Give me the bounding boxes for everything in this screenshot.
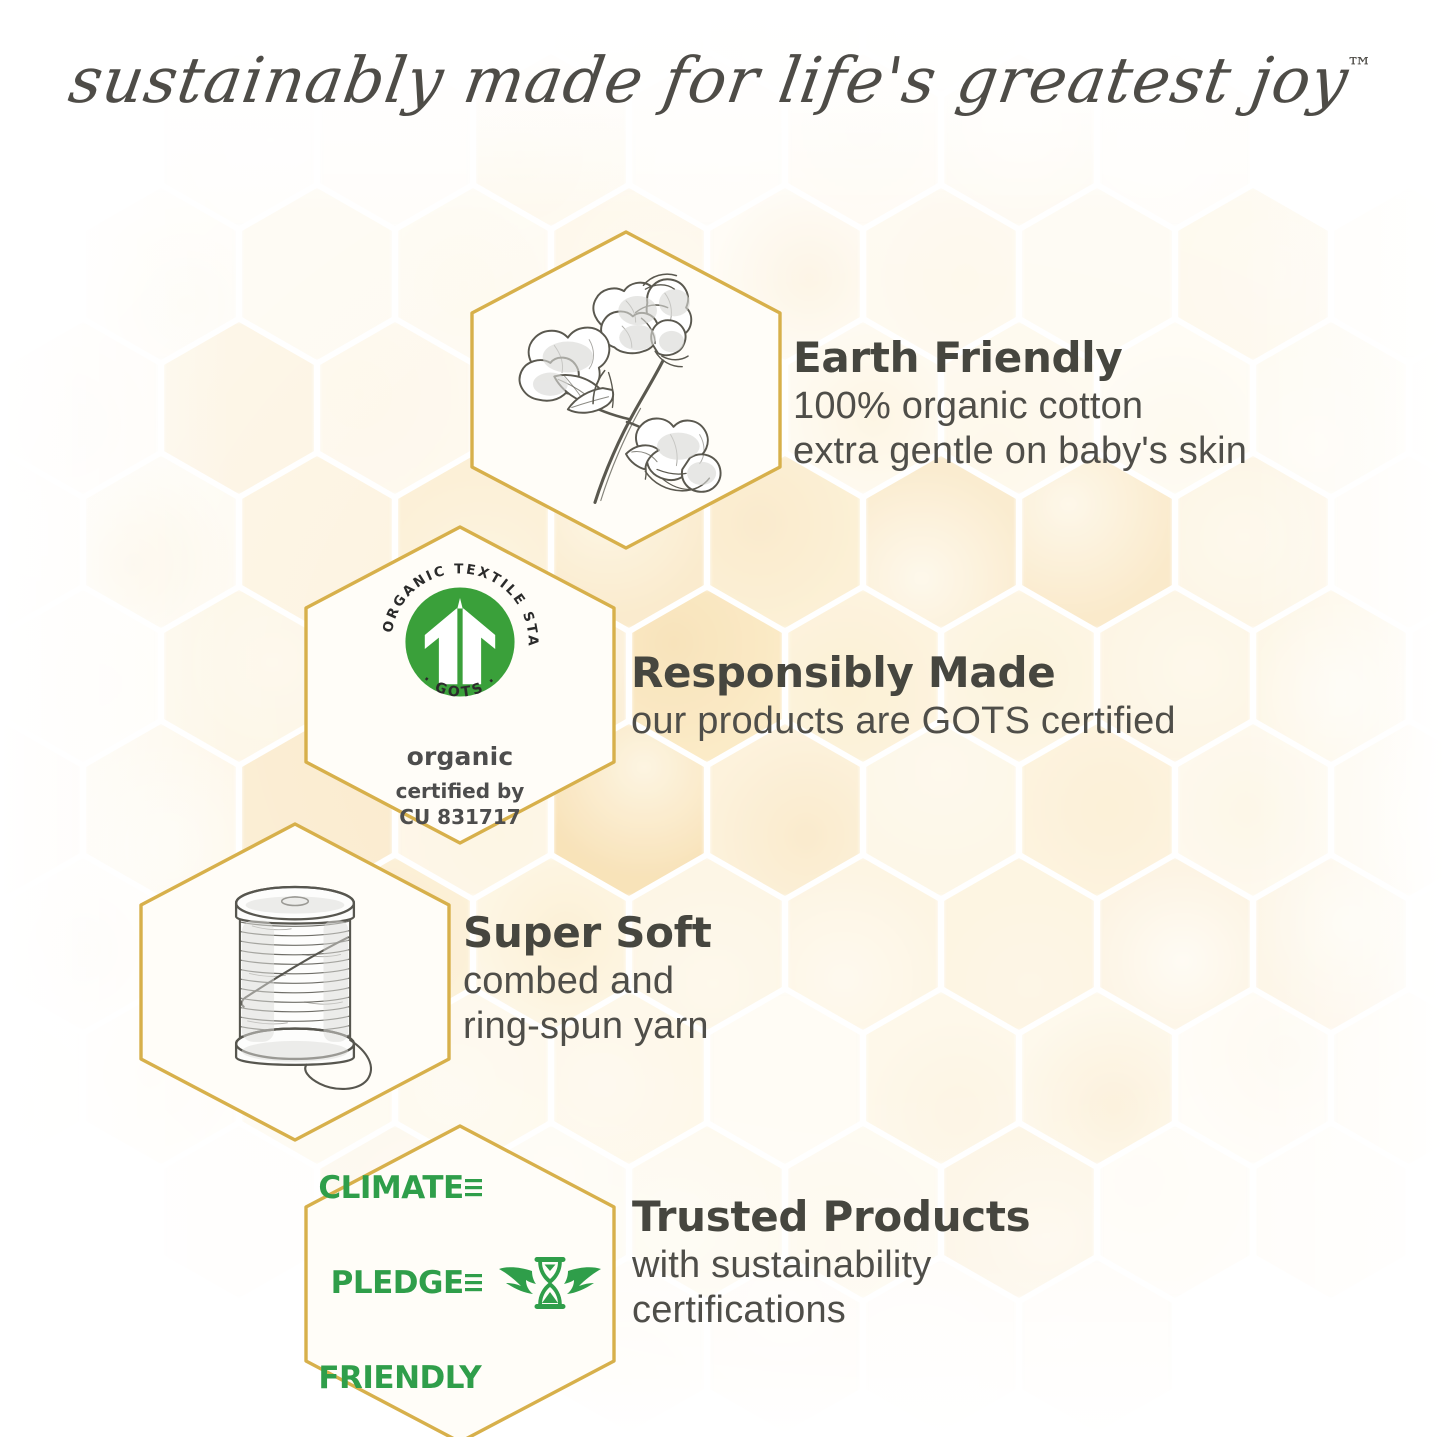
feature-line: with sustainability bbox=[632, 1243, 1030, 1287]
feature-line: certifications bbox=[632, 1288, 1030, 1332]
feature-hexagon-trusted-products: CLIMATE PLEDGE FRIENDLY bbox=[300, 1122, 620, 1437]
feature-text-responsibly-made: Responsibly Made our products are GOTS c… bbox=[631, 648, 1176, 744]
honeycomb-cell bbox=[86, 456, 236, 628]
honeycomb-cell bbox=[0, 724, 80, 896]
page-headline: sustainably made for life's greatest joy… bbox=[0, 44, 1445, 117]
infographic-canvas: sustainably made for life's greatest joy… bbox=[0, 0, 1445, 1437]
feature-line: our products are GOTS certified bbox=[631, 699, 1176, 743]
honeycomb-cell bbox=[710, 724, 860, 896]
gots-certified-by-label: certified by bbox=[396, 779, 525, 804]
honeycomb-cell bbox=[0, 456, 80, 628]
honeycomb-cell bbox=[1334, 992, 1445, 1164]
honeycomb-cell bbox=[164, 1126, 314, 1298]
cpf-bars-icon-1 bbox=[465, 1176, 482, 1202]
feature-line: combed and bbox=[463, 959, 712, 1003]
honeycomb-cell bbox=[0, 590, 2, 762]
honeycomb-cell bbox=[0, 858, 2, 1030]
winged-hourglass-icon bbox=[498, 1247, 602, 1321]
cpf-line-1: CLIMATE bbox=[318, 1173, 463, 1205]
feature-line: ring-spun yarn bbox=[463, 1004, 712, 1048]
cotton-plant-icon bbox=[466, 228, 786, 552]
headline-text: sustainably made for life's greatest joy bbox=[65, 44, 1355, 117]
feature-hexagon-super-soft bbox=[135, 820, 455, 1144]
honeycomb-cell bbox=[1100, 1126, 1250, 1298]
trademark-symbol: ™ bbox=[1347, 53, 1373, 83]
honeycomb-cell bbox=[710, 992, 860, 1164]
gots-seal: GLOBAL ORGANIC TEXTILE STANDARD · GOTS · bbox=[372, 554, 548, 730]
honeycomb-cell bbox=[944, 858, 1094, 1030]
cpf-bars-icon-2 bbox=[465, 1271, 482, 1297]
honeycomb-cell bbox=[866, 724, 1016, 896]
feature-hexagon-earth-friendly bbox=[466, 228, 786, 552]
honeycomb-cell bbox=[788, 858, 938, 1030]
honeycomb-cell bbox=[1334, 456, 1445, 628]
honeycomb-cell bbox=[1022, 724, 1172, 896]
honeycomb-cell bbox=[1256, 322, 1406, 494]
feature-heading: Trusted Products bbox=[632, 1192, 1030, 1241]
feature-heading: Super Soft bbox=[463, 908, 712, 957]
gots-organic-label: organic bbox=[407, 742, 514, 771]
honeycomb-cell bbox=[866, 456, 1016, 628]
honeycomb-cell bbox=[1178, 456, 1328, 628]
thread-spool-icon bbox=[135, 820, 455, 1144]
honeycomb-cell bbox=[1256, 858, 1406, 1030]
honeycomb-cell bbox=[866, 992, 1016, 1164]
honeycomb-cell bbox=[1256, 590, 1406, 762]
feature-hexagon-responsibly-made: GLOBAL ORGANIC TEXTILE STANDARD · GOTS ·… bbox=[300, 523, 620, 847]
honeycomb-cell bbox=[164, 590, 314, 762]
honeycomb-cell bbox=[1334, 724, 1445, 896]
honeycomb-cell bbox=[1412, 322, 1445, 494]
honeycomb-cell bbox=[1022, 992, 1172, 1164]
honeycomb-cell bbox=[86, 188, 236, 360]
honeycomb-cell bbox=[1178, 724, 1328, 896]
climate-pledge-friendly-icon: CLIMATE PLEDGE FRIENDLY bbox=[300, 1122, 620, 1437]
feature-line: 100% organic cotton bbox=[793, 384, 1247, 428]
honeycomb-cell bbox=[164, 322, 314, 494]
feature-heading: Responsibly Made bbox=[631, 648, 1176, 697]
gots-certification-icon: GLOBAL ORGANIC TEXTILE STANDARD · GOTS ·… bbox=[300, 523, 620, 847]
feature-text-earth-friendly: Earth Friendly 100% organic cotton extra… bbox=[793, 333, 1247, 473]
cpf-wordmark: CLIMATE PLEDGE FRIENDLY bbox=[318, 1110, 481, 1437]
feature-line: extra gentle on baby's skin bbox=[793, 429, 1247, 473]
honeycomb-cell bbox=[1334, 188, 1445, 360]
feature-text-super-soft: Super Soft combed and ring-spun yarn bbox=[463, 908, 712, 1048]
honeycomb-cell bbox=[242, 188, 392, 360]
honeycomb-cell bbox=[1412, 858, 1445, 1030]
honeycomb-cell bbox=[1256, 1126, 1406, 1298]
honeycomb-cell bbox=[1178, 992, 1328, 1164]
honeycomb-cell bbox=[1022, 456, 1172, 628]
honeycomb-cell bbox=[320, 322, 470, 494]
honeycomb-cell bbox=[8, 322, 158, 494]
honeycomb-cell bbox=[1100, 858, 1250, 1030]
honeycomb-cell bbox=[1412, 590, 1445, 762]
feature-heading: Earth Friendly bbox=[793, 333, 1247, 382]
honeycomb-cell bbox=[0, 992, 80, 1164]
honeycomb-cell bbox=[1022, 1260, 1172, 1432]
feature-text-trusted-products: Trusted Products with sustainability cer… bbox=[632, 1192, 1030, 1332]
cpf-line-3: FRIENDLY bbox=[318, 1363, 481, 1395]
cpf-line-2: PLEDGE bbox=[331, 1268, 464, 1300]
honeycomb-cell bbox=[8, 590, 158, 762]
